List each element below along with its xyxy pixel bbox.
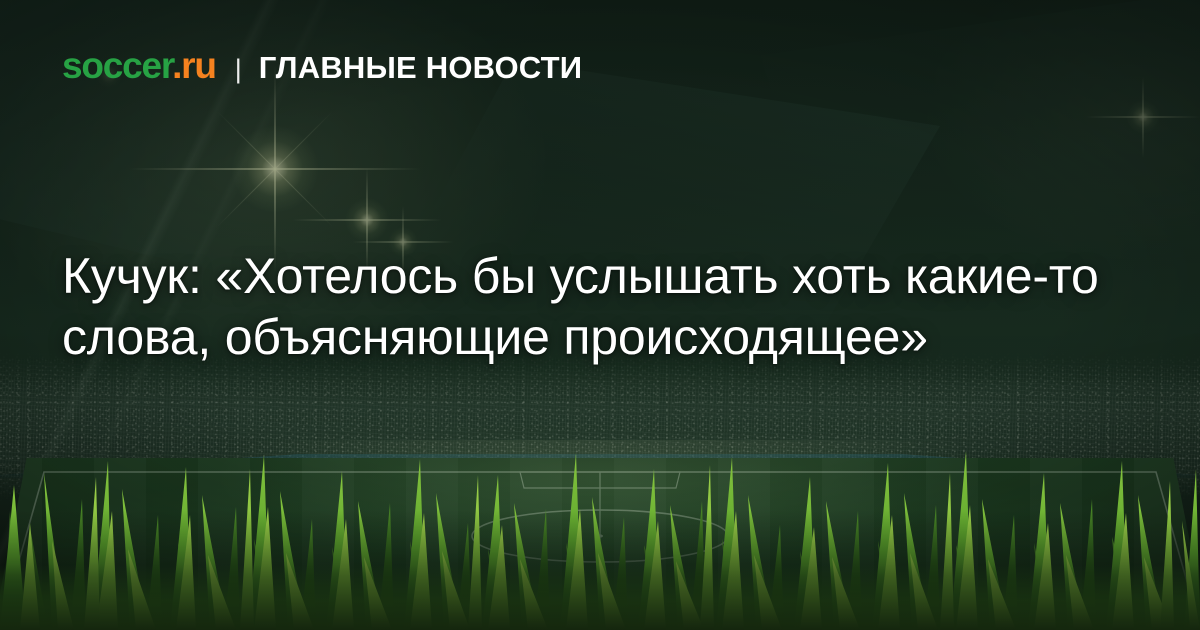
social-share-card: soccer.ru | ГЛАВНЫЕ НОВОСТИ Кучук: «Хоте… [0, 0, 1200, 630]
header-separator: | [235, 56, 242, 83]
article-headline: Кучук: «Хотелось бы услышать хоть какие-… [62, 246, 1122, 369]
floodlight-flare-right [1126, 100, 1160, 134]
foreground-grass [0, 415, 1200, 630]
header-section-label: ГЛАВНЫЕ НОВОСТИ [259, 52, 582, 83]
advertising-boards [0, 452, 1200, 478]
pitch-markings [0, 458, 1200, 630]
site-logo[interactable]: soccer.ru [62, 47, 216, 84]
site-logo-name: soccer [62, 45, 172, 86]
football-pitch [0, 458, 1200, 630]
card-header: soccer.ru | ГЛАВНЫЕ НОВОСТИ [62, 47, 582, 84]
crowd-speckle [0, 352, 1200, 502]
crowd-stands [0, 355, 1200, 500]
pitch-light-reflection [0, 440, 1200, 630]
floodlight-flare-primary [232, 126, 318, 212]
site-logo-domain: .ru [172, 45, 216, 86]
floodlight-flare-secondary [345, 198, 389, 242]
grass-shadow-base [0, 510, 1200, 630]
